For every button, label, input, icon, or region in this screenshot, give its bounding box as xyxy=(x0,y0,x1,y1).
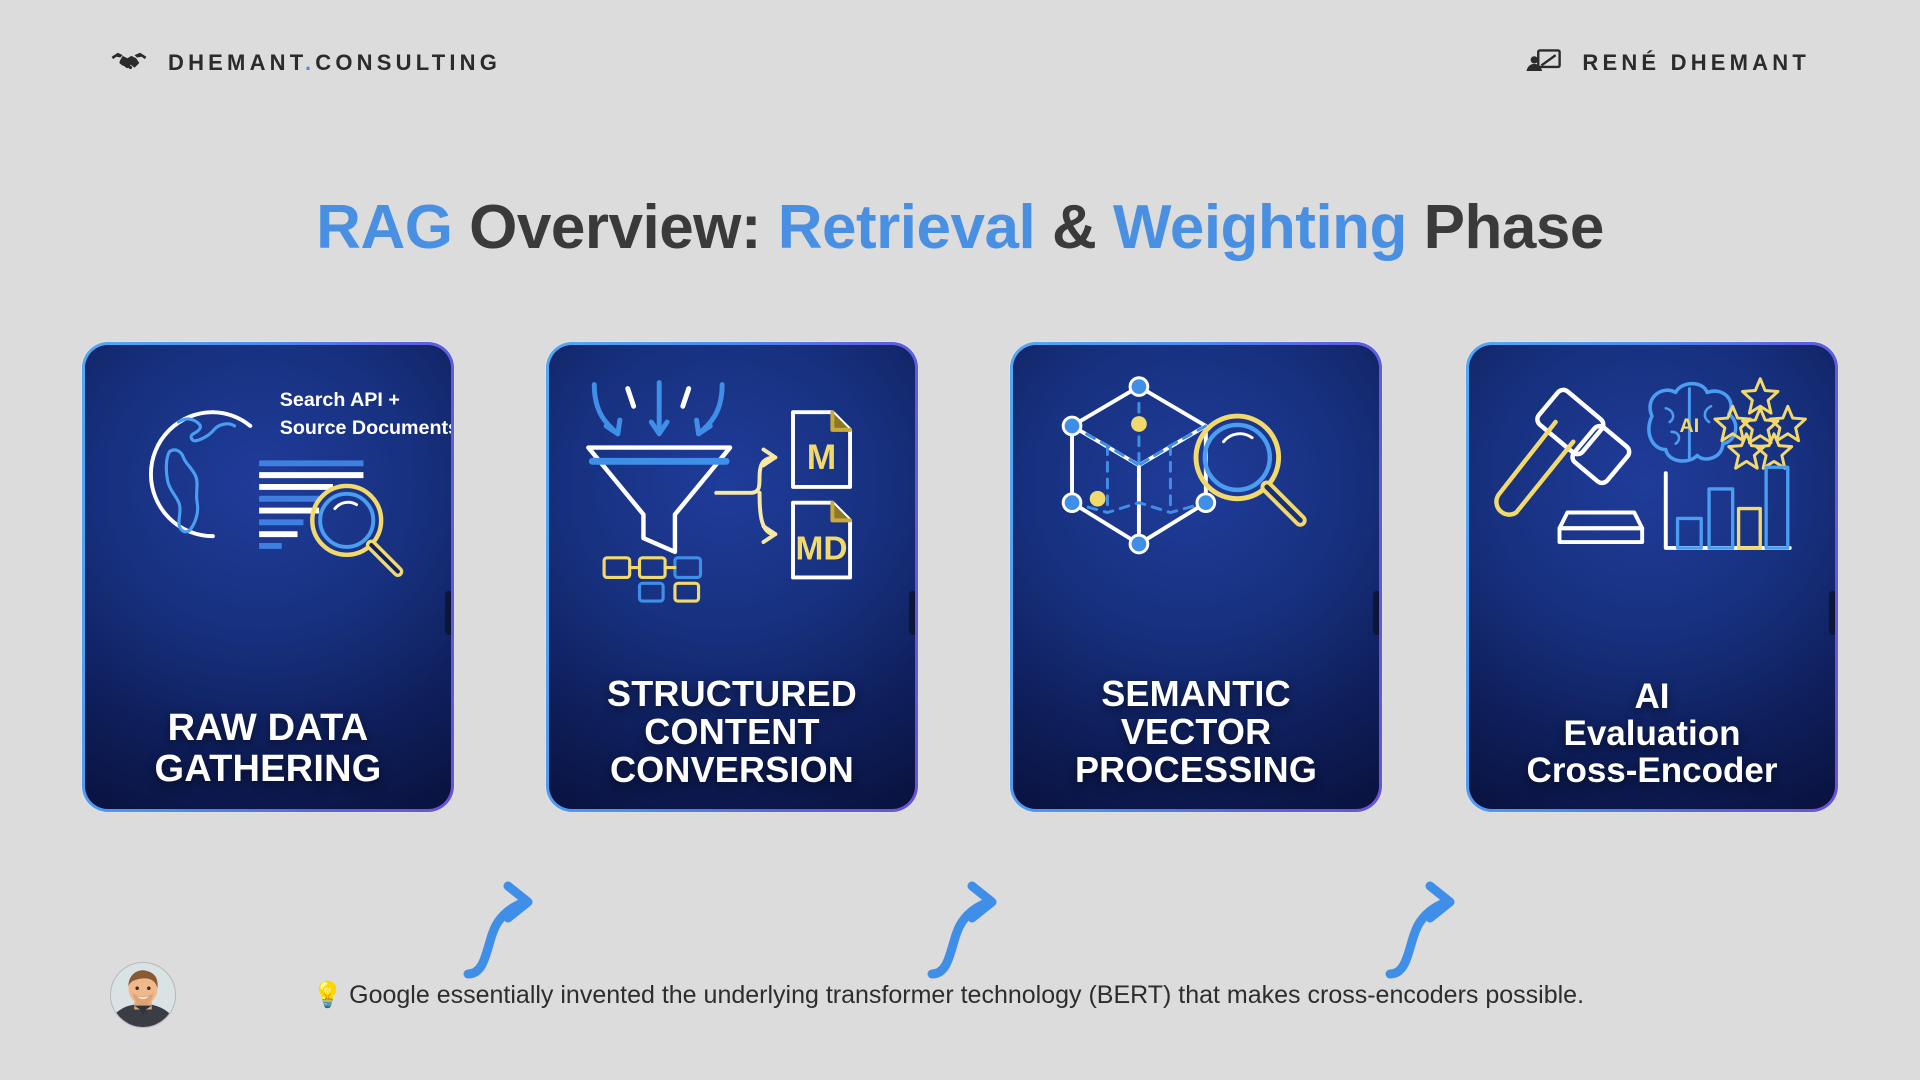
brand-text: DHEMANT.CONSULTING xyxy=(168,50,501,76)
card-body: AI AI Evaluation Cross-Encoder xyxy=(1469,345,1835,809)
brand-pre: DHEMANT xyxy=(168,50,305,75)
card-title: RAW DATA GATHERING xyxy=(99,708,437,789)
card-body: Search API + Source Documents RAW DATA G… xyxy=(85,345,451,809)
page-title: RAG Overview: Retrieval & Weighting Phas… xyxy=(0,192,1920,263)
art-label-line2: Source Documents xyxy=(280,417,451,439)
card-ai-evaluation-cross-encoder[interactable]: AI AI Evaluation Cross-Encoder xyxy=(1466,342,1838,812)
art-label-line1: Search API + xyxy=(280,389,400,411)
card-notch xyxy=(909,591,915,635)
card-title-line1: AI xyxy=(1483,678,1821,715)
globe-search-illustration: Search API + Source Documents xyxy=(85,363,451,603)
brand-post: CONSULTING xyxy=(315,50,501,75)
brain-label-ai: AI xyxy=(1680,415,1700,437)
card-title: SEMANTIC VECTOR PROCESSING xyxy=(1027,675,1365,789)
doc-label-md: MD xyxy=(796,531,848,568)
card-raw-data-gathering[interactable]: Search API + Source Documents RAW DATA G… xyxy=(82,342,454,812)
card-title-line2: Evaluation xyxy=(1483,715,1821,752)
vector-cube-illustration xyxy=(1013,363,1379,603)
card-notch xyxy=(1373,591,1379,635)
card-title: AI Evaluation Cross-Encoder xyxy=(1483,678,1821,789)
presentation-board-icon xyxy=(1524,48,1562,78)
card-title: STRUCTURED CONTENT CONVERSION xyxy=(563,675,901,789)
pipeline-cards: Search API + Source Documents RAW DATA G… xyxy=(0,342,1920,812)
card-title-line3: Cross-Encoder xyxy=(1483,752,1821,789)
title-part-retrieval: Retrieval xyxy=(778,193,1035,262)
funnel-conversion-illustration: M MD xyxy=(549,363,915,603)
card-notch xyxy=(445,591,451,635)
card-notch xyxy=(1829,591,1835,635)
gavel-brain-rating-illustration: AI xyxy=(1469,363,1835,603)
footer-note-row: 💡Google essentially invented the underly… xyxy=(110,962,1584,1028)
card-semantic-vector-processing[interactable]: SEMANTIC VECTOR PROCESSING xyxy=(1010,342,1382,812)
title-part-phase: Phase xyxy=(1407,193,1604,262)
brand-dot: . xyxy=(305,50,315,75)
title-part-weighting: Weighting xyxy=(1113,193,1407,262)
slide-root: DHEMANT.CONSULTING RENÉ DHEMANT RAG Over… xyxy=(0,0,1920,1080)
card-body: M MD STRUCTURED CONTENT CONVERSION xyxy=(549,345,915,809)
card-title-line1: RAW DATA xyxy=(99,708,437,748)
card-structured-content-conversion[interactable]: M MD STRUCTURED CONTENT CONVERSION xyxy=(546,342,918,812)
brand-lockup: DHEMANT.CONSULTING xyxy=(110,48,501,78)
title-part-rag: RAG xyxy=(316,193,452,262)
card-title-line2: CONTENT xyxy=(563,713,901,751)
footer-note-text: Google essentially invented the underlyi… xyxy=(349,981,1584,1009)
card-body: SEMANTIC VECTOR PROCESSING xyxy=(1013,345,1379,809)
card-title-line1: STRUCTURED xyxy=(563,675,901,713)
handshake-icon xyxy=(110,48,148,78)
lightbulb-icon: 💡 xyxy=(312,981,343,1009)
footer-note: 💡Google essentially invented the underly… xyxy=(312,981,1584,1010)
presenter-lockup: RENÉ DHEMANT xyxy=(1524,48,1810,78)
card-title-line2: GATHERING xyxy=(99,749,437,789)
doc-label-m: M xyxy=(807,437,837,477)
card-title-line1: SEMANTIC xyxy=(1027,675,1365,713)
avatar xyxy=(110,962,176,1028)
card-title-line3: CONVERSION xyxy=(563,751,901,789)
card-title-line2: VECTOR xyxy=(1027,713,1365,751)
card-title-line3: PROCESSING xyxy=(1027,751,1365,789)
title-part-overview: Overview: xyxy=(452,193,777,262)
presenter-name: RENÉ DHEMANT xyxy=(1582,50,1810,76)
title-part-amp: & xyxy=(1035,193,1113,262)
